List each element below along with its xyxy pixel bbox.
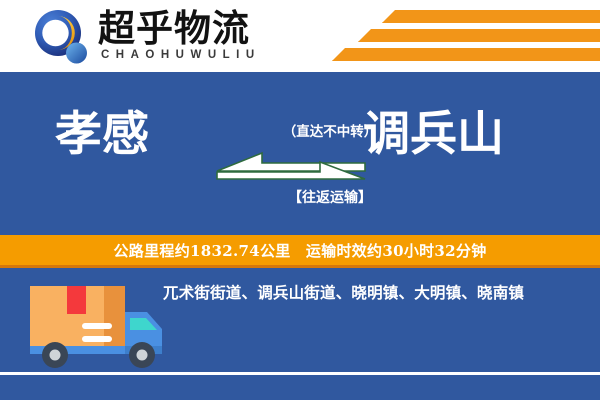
route-panel: 孝感 调兵山 （直达不中转） 【往返运输】 <box>0 72 600 235</box>
road-line <box>0 372 600 375</box>
brand-name-en: CHAOHUWULIU <box>101 49 261 61</box>
direct-route-note-text: （直达不中转） <box>283 120 378 140</box>
bidirectional-arrow-icon <box>215 144 367 189</box>
service-areas-text: 兀术街街道、调兵山街道、晓明镇、大明镇、晓南镇 <box>163 282 588 304</box>
stripe-2 <box>358 29 600 42</box>
circle-crescent-logo-icon <box>33 9 91 67</box>
stripe-1 <box>382 10 600 23</box>
round-trip-note: 【往返运输】 <box>0 187 600 207</box>
decorative-stripes <box>330 10 600 66</box>
stripe-3 <box>332 48 600 61</box>
banner-header: 超乎物流 CHAOHUWULIU <box>0 0 600 72</box>
service-areas-panel: 兀术街街道、调兵山街道、晓明镇、大明镇、晓南镇 <box>0 268 600 400</box>
distance-duration-text: 公路里程约1832.74公里 运输时效约30小时32分钟 <box>114 240 487 261</box>
direct-route-note: （直达不中转） <box>0 120 600 140</box>
distance-duration-bar: 公路里程约1832.74公里 运输时效约30小时32分钟 <box>0 235 600 268</box>
brand-name-cn: 超乎物流 <box>98 8 250 48</box>
round-trip-note-text: 【往返运输】 <box>288 187 372 207</box>
delivery-truck-icon <box>22 276 170 372</box>
logistics-route-banner: 超乎物流 CHAOHUWULIU 孝感 调兵山 （直达不中转） 【往返运输】 <box>0 0 600 400</box>
